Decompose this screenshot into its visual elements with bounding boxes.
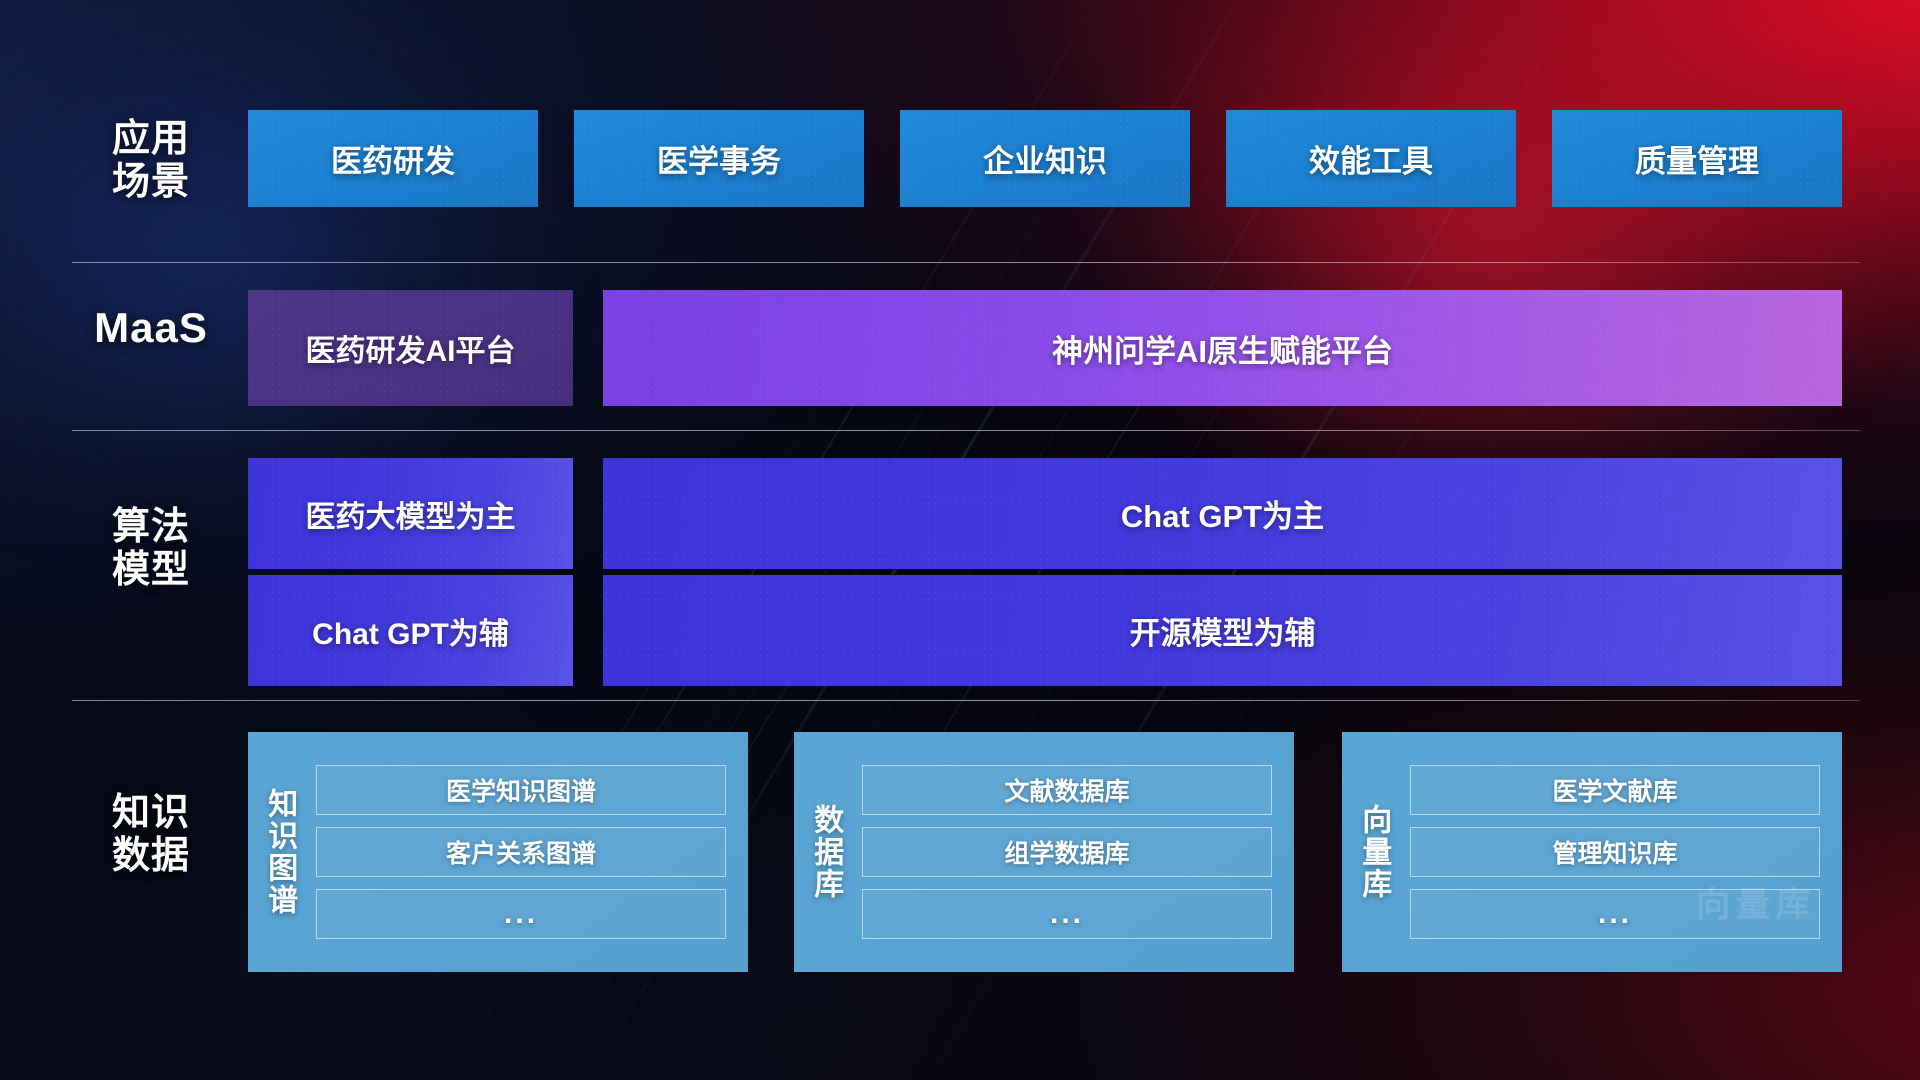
maas-card-platform-pharma-label: 医药研发AI平台 xyxy=(306,326,516,370)
knowledge-item-omics-database[interactable]: 组学数据库 xyxy=(862,827,1272,877)
algorithm-card-chatgpt-secondary[interactable]: Chat GPT为辅 xyxy=(248,575,573,686)
row-algorithm-model: 算法 模型 医药大模型为主 Chat GPT为主 Chat GPT为辅 开源模型… xyxy=(0,430,1920,696)
algorithm-card-pharma-primary[interactable]: 医药大模型为主 xyxy=(248,458,573,569)
algorithm-card-chatgpt-secondary-label: Chat GPT为辅 xyxy=(312,609,509,653)
knowledge-item-customer-relation-graph[interactable]: 客户关系图谱 xyxy=(316,827,726,877)
knowledge-group-knowledge-graph-items: 医学知识图谱 客户关系图谱 ... xyxy=(310,732,748,972)
row-maas: MaaS 医药研发AI平台 神州问学AI原生赋能平台 xyxy=(0,262,1920,430)
algorithm-card-opensource-secondary[interactable]: 开源模型为辅 xyxy=(603,575,1842,686)
knowledge-item-literature-database[interactable]: 文献数据库 xyxy=(862,765,1272,815)
algorithm-card-chatgpt-primary-label: Chat GPT为主 xyxy=(1121,491,1324,536)
algorithm-card-chatgpt-primary[interactable]: Chat GPT为主 xyxy=(603,458,1842,569)
app-scenario-card-3[interactable]: 企业知识 xyxy=(900,110,1190,207)
row-track-maas: 医药研发AI平台 神州问学AI原生赋能平台 xyxy=(248,262,1860,430)
app-scenario-card-3-label: 企业知识 xyxy=(983,136,1107,181)
knowledge-group-knowledge-graph[interactable]: 知识图谱 医学知识图谱 客户关系图谱 ... xyxy=(248,732,748,972)
maas-card-platform-shenzhou-label: 神州问学AI原生赋能平台 xyxy=(1052,326,1393,371)
knowledge-item-medical-knowledge-graph[interactable]: 医学知识图谱 xyxy=(316,765,726,815)
row-label-application-scenario: 应用 场景 xyxy=(60,118,242,205)
row-knowledge-data: 知识 数据 知识图谱 医学知识图谱 客户关系图谱 ... 数据库 文献数据库 组… xyxy=(0,700,1920,1000)
knowledge-group-vector-store[interactable]: 向量库 医学文献库 管理知识库 ... 向量库 xyxy=(1342,732,1842,972)
knowledge-group-database-items: 文献数据库 组学数据库 ... xyxy=(856,732,1294,972)
knowledge-group-vector-store-title: 向量库 xyxy=(1342,732,1404,972)
app-scenario-card-4[interactable]: 效能工具 xyxy=(1226,110,1516,207)
knowledge-item-more-3[interactable]: ... xyxy=(1410,889,1820,939)
app-scenario-card-5[interactable]: 质量管理 xyxy=(1552,110,1842,207)
app-scenario-card-5-label: 质量管理 xyxy=(1635,136,1759,181)
maas-card-platform-shenzhou[interactable]: 神州问学AI原生赋能平台 xyxy=(603,290,1842,406)
row-track-knowledge-data: 知识图谱 医学知识图谱 客户关系图谱 ... 数据库 文献数据库 组学数据库 .… xyxy=(248,700,1860,1000)
app-scenario-card-4-label: 效能工具 xyxy=(1309,136,1433,181)
algorithm-card-opensource-secondary-label: 开源模型为辅 xyxy=(1130,608,1316,653)
app-scenario-card-2-label: 医学事务 xyxy=(657,136,781,181)
app-scenario-card-2[interactable]: 医学事务 xyxy=(574,110,864,207)
row-track-algorithm-model: 医药大模型为主 Chat GPT为主 Chat GPT为辅 开源模型为辅 xyxy=(248,430,1860,696)
maas-card-platform-pharma[interactable]: 医药研发AI平台 xyxy=(248,290,573,406)
knowledge-item-more-1[interactable]: ... xyxy=(316,889,726,939)
knowledge-item-medical-literature-store[interactable]: 医学文献库 xyxy=(1410,765,1820,815)
knowledge-group-knowledge-graph-title: 知识图谱 xyxy=(248,732,310,972)
knowledge-group-database-title: 数据库 xyxy=(794,732,856,972)
row-application-scenario: 应用 场景 医药研发 医学事务 企业知识 效能工具 质量管理 xyxy=(0,0,1920,262)
row-label-algorithm-model: 算法 模型 xyxy=(60,506,242,593)
row-label-knowledge-data: 知识 数据 xyxy=(60,792,242,879)
architecture-diagram: 应用 场景 医药研发 医学事务 企业知识 效能工具 质量管理 MaaS 医药研发… xyxy=(0,0,1920,1080)
algorithm-card-pharma-primary-label: 医药大模型为主 xyxy=(306,492,516,536)
row-track-application-scenario: 医药研发 医学事务 企业知识 效能工具 质量管理 xyxy=(248,0,1860,262)
knowledge-group-vector-store-items: 医学文献库 管理知识库 ... xyxy=(1404,732,1842,972)
knowledge-item-management-knowledge-store[interactable]: 管理知识库 xyxy=(1410,827,1820,877)
app-scenario-card-1-label: 医药研发 xyxy=(331,136,455,181)
row-label-maas: MaaS xyxy=(60,304,242,352)
knowledge-item-more-2[interactable]: ... xyxy=(862,889,1272,939)
app-scenario-card-1[interactable]: 医药研发 xyxy=(248,110,538,207)
knowledge-group-database[interactable]: 数据库 文献数据库 组学数据库 ... xyxy=(794,732,1294,972)
